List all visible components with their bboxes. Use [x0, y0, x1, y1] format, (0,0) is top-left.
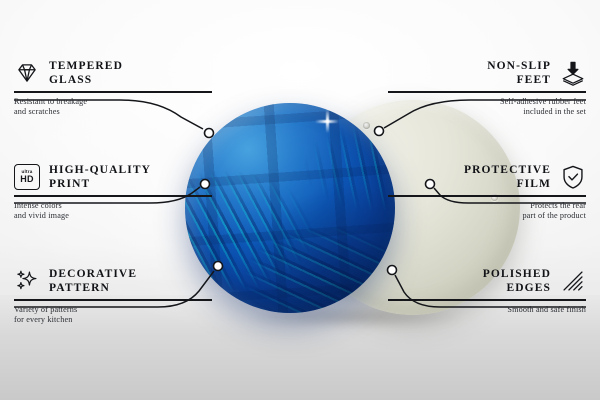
feature-description: Intense colors and vivid image: [14, 201, 212, 222]
feature-rule: [14, 195, 212, 197]
anchor-non-slip-feet: [375, 127, 384, 136]
feature-description: Resistant to breakage and scratches: [14, 97, 212, 118]
feature-decorative-pattern[interactable]: DECORATIVE PATTERN Variety of patterns f…: [14, 267, 212, 326]
ultra-hd-icon-bottom-label: HD: [20, 175, 33, 184]
infographic-canvas: TEMPERED GLASS Resistant to breakage and…: [0, 0, 600, 400]
anchor-tempered-glass: [205, 129, 214, 138]
sparkles-icon: [14, 268, 40, 294]
diagonal-lines-icon: [560, 268, 586, 294]
feature-header: TEMPERED GLASS: [14, 59, 212, 87]
feature-rule: [14, 91, 212, 93]
feature-protective-film[interactable]: PROTECTIVE FILM Protects the rear part o…: [388, 163, 586, 222]
feature-tempered-glass[interactable]: TEMPERED GLASS Resistant to breakage and…: [14, 59, 212, 118]
feature-header: PROTECTIVE FILM: [388, 163, 586, 191]
feature-description: Protects the rear part of the product: [388, 201, 586, 222]
arrow-down-pad-icon: [560, 60, 586, 86]
feature-title: DECORATIVE PATTERN: [49, 267, 137, 295]
feature-description: Variety of patterns for every kitchen: [14, 305, 212, 326]
ultra-hd-icon: ultra HD: [14, 164, 40, 190]
feature-title: HIGH-QUALITY PRINT: [49, 163, 151, 191]
feature-rule: [388, 299, 586, 301]
feature-high-quality-print[interactable]: ultra HD HIGH-QUALITY PRINT Intense colo…: [14, 163, 212, 222]
feature-polished-edges[interactable]: POLISHED EDGES Smooth and safe finish: [388, 267, 586, 315]
feature-non-slip-feet[interactable]: NON-SLIP FEET Self-adhesive rubber feet …: [388, 59, 586, 118]
feature-description: Self-adhesive rubber feet included in th…: [388, 97, 586, 118]
feature-title: NON-SLIP FEET: [487, 59, 551, 87]
anchor-decorative-pattern: [214, 262, 223, 271]
feature-header: POLISHED EDGES: [388, 267, 586, 295]
diamond-icon: [14, 60, 40, 86]
feature-rule: [14, 299, 212, 301]
feature-header: DECORATIVE PATTERN: [14, 267, 212, 295]
feature-rule: [388, 91, 586, 93]
feature-description: Smooth and safe finish: [388, 305, 586, 316]
feature-header: NON-SLIP FEET: [388, 59, 586, 87]
feature-title: PROTECTIVE FILM: [464, 163, 551, 191]
feature-rule: [388, 195, 586, 197]
feature-title: TEMPERED GLASS: [49, 59, 123, 87]
feature-header: ultra HD HIGH-QUALITY PRINT: [14, 163, 212, 191]
shield-check-icon: [560, 164, 586, 190]
feature-title: POLISHED EDGES: [483, 267, 551, 295]
